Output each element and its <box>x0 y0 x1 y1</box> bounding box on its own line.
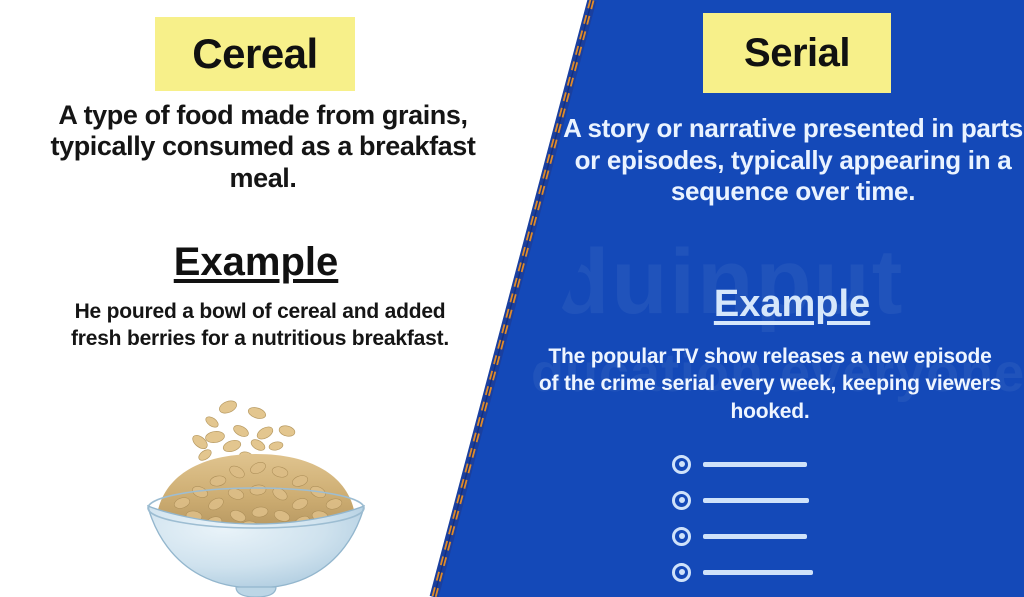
list-item <box>672 482 992 518</box>
cereal-example-heading: Example <box>0 240 512 285</box>
serial-example-text: The popular TV show releases a new episo… <box>536 343 1004 425</box>
serial-bullet-list <box>672 446 992 590</box>
cereal-title-badge: Cereal <box>155 17 355 91</box>
list-item <box>672 518 992 554</box>
serial-column: Serial A story or narrative presented in… <box>512 0 1024 597</box>
ring-dot-bullet-icon <box>672 491 691 510</box>
bullet-placeholder-line <box>703 534 807 539</box>
bullet-placeholder-line <box>703 498 809 503</box>
comparison-poster: eduinput education everyone Cereal A typ… <box>0 0 1024 597</box>
ring-dot-bullet-icon <box>672 455 691 474</box>
cereal-column: Cereal A type of food made from grains, … <box>0 0 516 597</box>
ring-dot-bullet-icon <box>672 563 691 582</box>
bullet-placeholder-line <box>703 462 807 467</box>
list-item <box>672 446 992 482</box>
ring-dot-bullet-icon <box>672 527 691 546</box>
cereal-example-text: He poured a bowl of cereal and added fre… <box>60 298 460 353</box>
serial-title-badge: Serial <box>703 13 891 93</box>
cereal-title-text: Cereal <box>192 33 317 75</box>
bullet-placeholder-line <box>703 570 813 575</box>
serial-example-heading: Example <box>612 283 972 326</box>
serial-title-text: Serial <box>744 33 850 73</box>
list-item <box>672 554 992 590</box>
bowl-of-cereal-illustration <box>140 398 372 597</box>
cereal-definition: A type of food made from grains, typical… <box>14 100 512 194</box>
serial-definition: A story or narrative presented in parts … <box>560 113 1024 208</box>
